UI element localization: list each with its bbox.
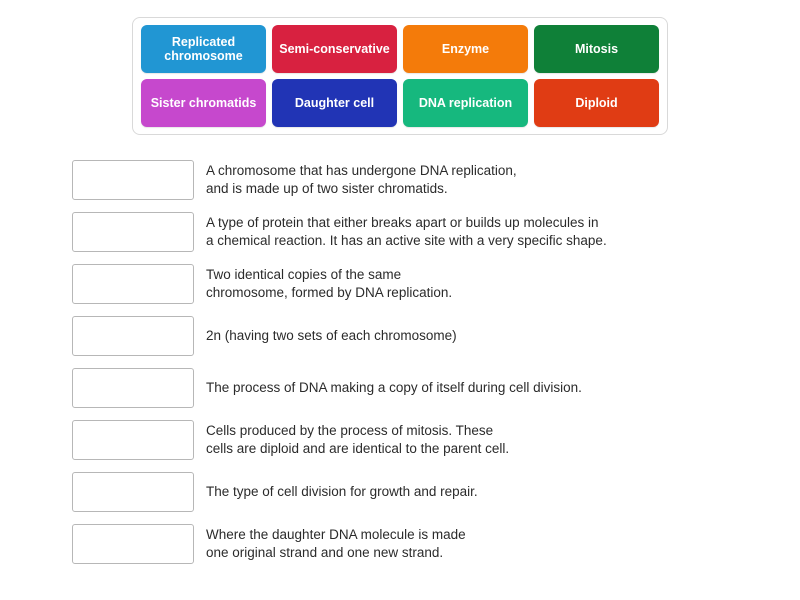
dropzone-7[interactable] — [72, 472, 194, 512]
dropzone-4[interactable] — [72, 316, 194, 356]
dropzone-6[interactable] — [72, 420, 194, 460]
tile-diploid[interactable]: Diploid — [534, 79, 659, 127]
definition-text-3: Two identical copies of the same chromos… — [206, 266, 452, 303]
tile-dna-replication[interactable]: DNA replication — [403, 79, 528, 127]
definition-text-4: 2n (having two sets of each chromosome) — [206, 327, 457, 345]
dropzone-2[interactable] — [72, 212, 194, 252]
tile-daughter-cell[interactable]: Daughter cell — [272, 79, 397, 127]
definition-row: 2n (having two sets of each chromosome) — [72, 316, 712, 356]
definition-list: A chromosome that has undergone DNA repl… — [72, 160, 712, 576]
dropzone-3[interactable] — [72, 264, 194, 304]
answer-tiles-row-2: Sister chromatids Daughter cell DNA repl… — [141, 79, 659, 127]
definition-text-7: The type of cell division for growth and… — [206, 483, 478, 501]
tile-enzyme[interactable]: Enzyme — [403, 25, 528, 73]
definition-row: The process of DNA making a copy of itse… — [72, 368, 712, 408]
dropzone-5[interactable] — [72, 368, 194, 408]
match-up-activity: Replicated chromosome Semi-conservative … — [0, 0, 800, 600]
definition-row: Two identical copies of the same chromos… — [72, 264, 712, 304]
definition-text-2: A type of protein that either breaks apa… — [206, 214, 607, 251]
definition-text-1: A chromosome that has undergone DNA repl… — [206, 162, 517, 199]
definition-row: The type of cell division for growth and… — [72, 472, 712, 512]
tile-mitosis[interactable]: Mitosis — [534, 25, 659, 73]
tile-replicated-chromosome[interactable]: Replicated chromosome — [141, 25, 266, 73]
definition-row: A chromosome that has undergone DNA repl… — [72, 160, 712, 200]
definition-row: Cells produced by the process of mitosis… — [72, 420, 712, 460]
dropzone-1[interactable] — [72, 160, 194, 200]
tile-semi-conservative[interactable]: Semi-conservative — [272, 25, 397, 73]
tile-sister-chromatids[interactable]: Sister chromatids — [141, 79, 266, 127]
dropzone-8[interactable] — [72, 524, 194, 564]
answer-tiles-panel: Replicated chromosome Semi-conservative … — [132, 17, 668, 135]
answer-tiles-row-1: Replicated chromosome Semi-conservative … — [141, 25, 659, 73]
definition-text-5: The process of DNA making a copy of itse… — [206, 379, 582, 397]
definition-text-8: Where the daughter DNA molecule is made … — [206, 526, 466, 563]
definition-text-6: Cells produced by the process of mitosis… — [206, 422, 509, 459]
definition-row: A type of protein that either breaks apa… — [72, 212, 712, 252]
definition-row: Where the daughter DNA molecule is made … — [72, 524, 712, 564]
